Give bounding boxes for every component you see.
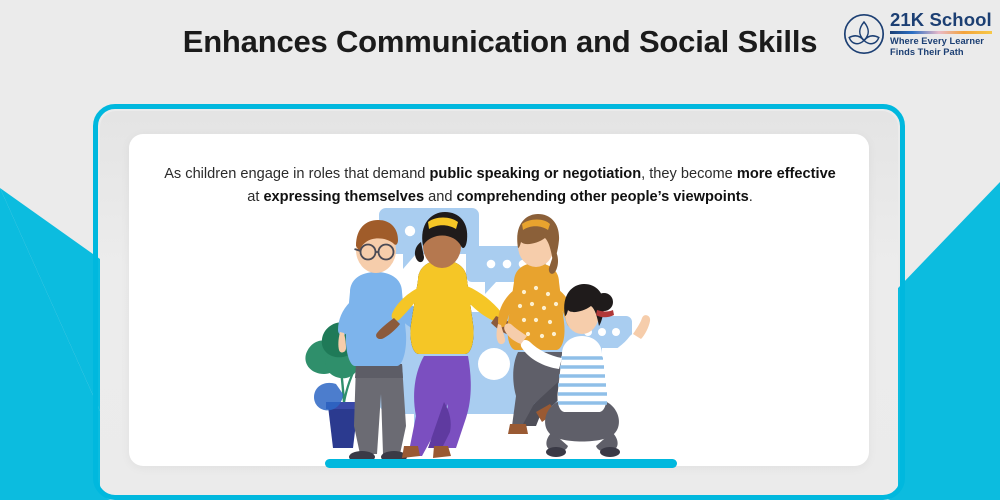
body-segment-4: at — [247, 189, 263, 205]
body-segment-5: expressing themselves — [263, 189, 424, 205]
slide-root: Enhances Communication and Social Skills… — [0, 0, 1000, 500]
body-segment-0: As children engage in roles that demand — [164, 166, 429, 182]
logo-text-block: 21K School Where Every Learner Finds The… — [890, 10, 992, 57]
body-segment-2: , they become — [641, 166, 737, 182]
body-segment-3: more effective — [737, 166, 836, 182]
logo-tagline-line1: Where Every Learner — [890, 36, 992, 47]
people-conversing-illustration — [284, 206, 704, 466]
body-segment-8: . — [749, 189, 753, 205]
card-bottom-accent-bar — [325, 459, 677, 468]
logo-gradient-rule — [890, 31, 992, 34]
brand-logo: 21K School Where Every Learner Finds The… — [843, 10, 993, 58]
body-segment-7: comprehending other people’s viewpoints — [457, 189, 749, 205]
body-paragraph: As children engage in roles that demand … — [158, 163, 842, 209]
logo-name: 21K School — [890, 10, 992, 30]
body-segment-1: public speaking or negotiation — [429, 166, 641, 182]
body-segment-6: and — [424, 189, 456, 205]
lotus-in-circle-icon — [843, 13, 885, 55]
logo-tagline-line2: Finds Their Path — [890, 47, 992, 58]
